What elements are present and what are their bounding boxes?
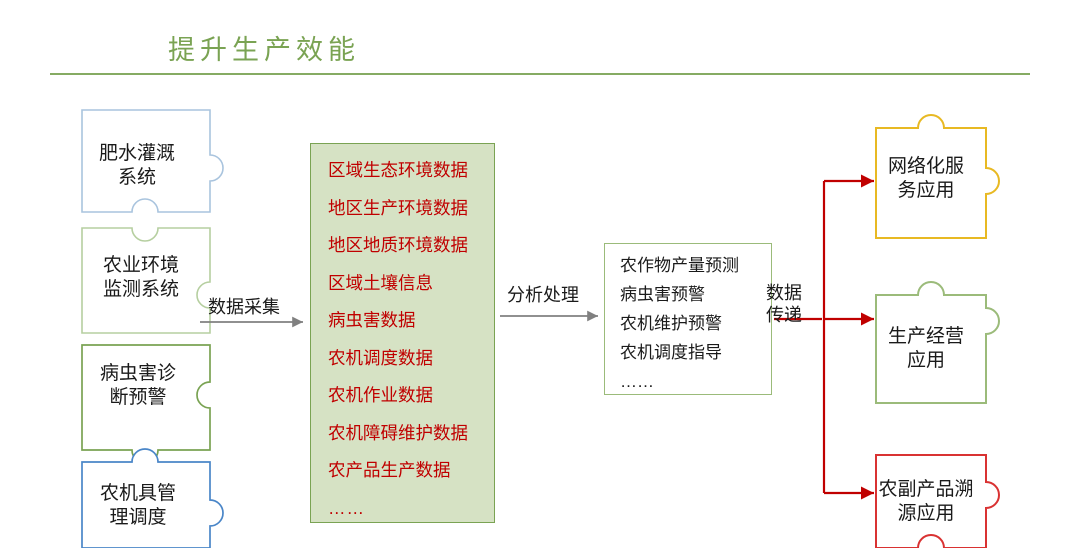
data-item: 农机障碍维护数据 <box>318 415 493 453</box>
application-piece-2[interactable] <box>876 282 999 403</box>
data-item: 农机作业数据 <box>318 377 493 415</box>
data-item: 农产品生产数据 <box>318 452 493 490</box>
data-item: 地区地质环境数据 <box>318 227 493 265</box>
collected-data-list: 区域生态环境数据 地区生产环境数据 地区地质环境数据 区域土壤信息 病虫害数据 … <box>318 152 493 527</box>
source-piece-2[interactable] <box>82 228 210 333</box>
output-item: 农机调度指导 <box>612 338 772 367</box>
output-item-ellipsis: …… <box>612 367 772 396</box>
connector-label-data-collect: 数据采集 <box>208 297 280 319</box>
application-piece-3[interactable] <box>876 455 999 548</box>
source-piece-1[interactable] <box>82 110 223 212</box>
connector-label-transfer: 数据 传递 <box>766 283 802 326</box>
slide-canvas: 提升生产效能 <box>0 0 1080 548</box>
data-item: 病虫害数据 <box>318 302 493 340</box>
data-item: 农机调度数据 <box>318 340 493 378</box>
data-item: 区域土壤信息 <box>318 265 493 303</box>
output-item: 农作物产量预测 <box>612 251 772 280</box>
diagram-graphics <box>0 0 1080 548</box>
data-item: 地区生产环境数据 <box>318 190 493 228</box>
connector-label-analysis: 分析处理 <box>507 285 579 307</box>
application-piece-1[interactable] <box>876 115 999 238</box>
analysis-output-list: 农作物产量预测 病虫害预警 农机维护预警 农机调度指导 …… <box>612 251 772 396</box>
output-item: 病虫害预警 <box>612 280 772 309</box>
data-item-ellipsis: …… <box>318 490 493 528</box>
output-item: 农机维护预警 <box>612 309 772 338</box>
data-item: 区域生态环境数据 <box>318 152 493 190</box>
source-piece-4[interactable] <box>82 449 223 548</box>
source-piece-3[interactable] <box>82 345 210 463</box>
